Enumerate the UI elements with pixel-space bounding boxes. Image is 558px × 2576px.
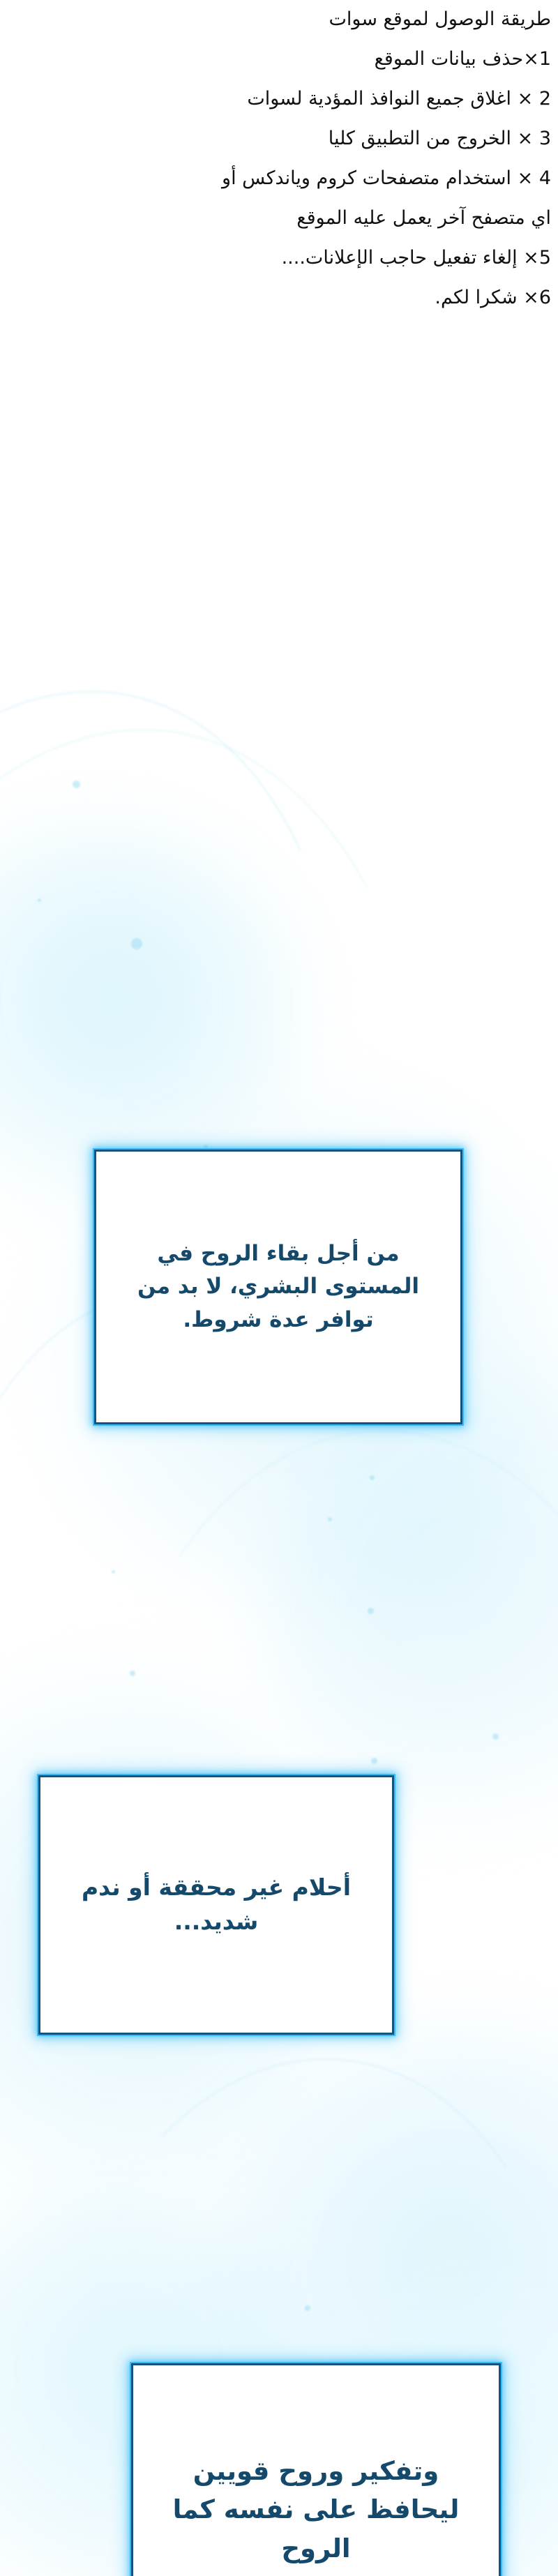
watercolor-speck bbox=[371, 1758, 377, 1764]
watercolor-speck bbox=[370, 1475, 375, 1480]
quote-card-3: وتفكير وروح قويين ليحافظ على نفسه كما ال… bbox=[131, 2363, 501, 2576]
watercolor-speck bbox=[305, 2305, 310, 2311]
watercolor-speck bbox=[131, 938, 142, 949]
watercolor-speck bbox=[368, 1608, 374, 1614]
watercolor-speck bbox=[130, 1671, 135, 1676]
quote-card-3-text: وتفكير وروح قويين ليحافظ على نفسه كما ال… bbox=[133, 2452, 499, 2568]
watercolor-speck bbox=[204, 1145, 208, 1149]
watercolor-speck bbox=[112, 1570, 115, 1574]
instruction-step-3: 3 × الخروج من التطبيق كليا bbox=[7, 129, 551, 148]
watercolor-speck bbox=[328, 1517, 332, 1521]
instruction-step-6: 6× شكرا لكم. bbox=[7, 288, 551, 307]
instructions-block: طريقة الوصول لموقع سوات 1×حذف بيانات الم… bbox=[7, 10, 551, 307]
instruction-step-5: 5× إلغاء تفعيل حاجب الإعلانات.... bbox=[7, 248, 551, 267]
watercolor-speck bbox=[73, 781, 80, 788]
instruction-step-4: 4 × استخدام متصفحات كروم وياندكس أو bbox=[7, 169, 551, 188]
quote-card-1-text: من أجل بقاء الروح في المستوى البشري، لا … bbox=[96, 1237, 460, 1336]
page-root: طريقة الوصول لموقع سوات 1×حذف بيانات الم… bbox=[0, 0, 558, 2576]
instruction-step-4-continued: اي متصفح آخر يعمل عليه الموقع bbox=[7, 209, 551, 227]
watercolor-speck bbox=[38, 898, 41, 902]
quote-card-1: من أجل بقاء الروح في المستوى البشري، لا … bbox=[94, 1150, 462, 1424]
quote-card-2: أحلام غير محققة أو ندم شديد... bbox=[38, 1775, 394, 2035]
instruction-step-1: 1×حذف بيانات الموقع bbox=[7, 50, 551, 68]
instructions-title: طريقة الوصول لموقع سوات bbox=[7, 10, 551, 29]
instruction-step-2: 2 × اغلاق جميع النوافذ المؤدية لسوات bbox=[7, 89, 551, 108]
quote-card-2-text: أحلام غير محققة أو ندم شديد... bbox=[40, 1871, 392, 1939]
watercolor-speck bbox=[492, 1733, 499, 1740]
